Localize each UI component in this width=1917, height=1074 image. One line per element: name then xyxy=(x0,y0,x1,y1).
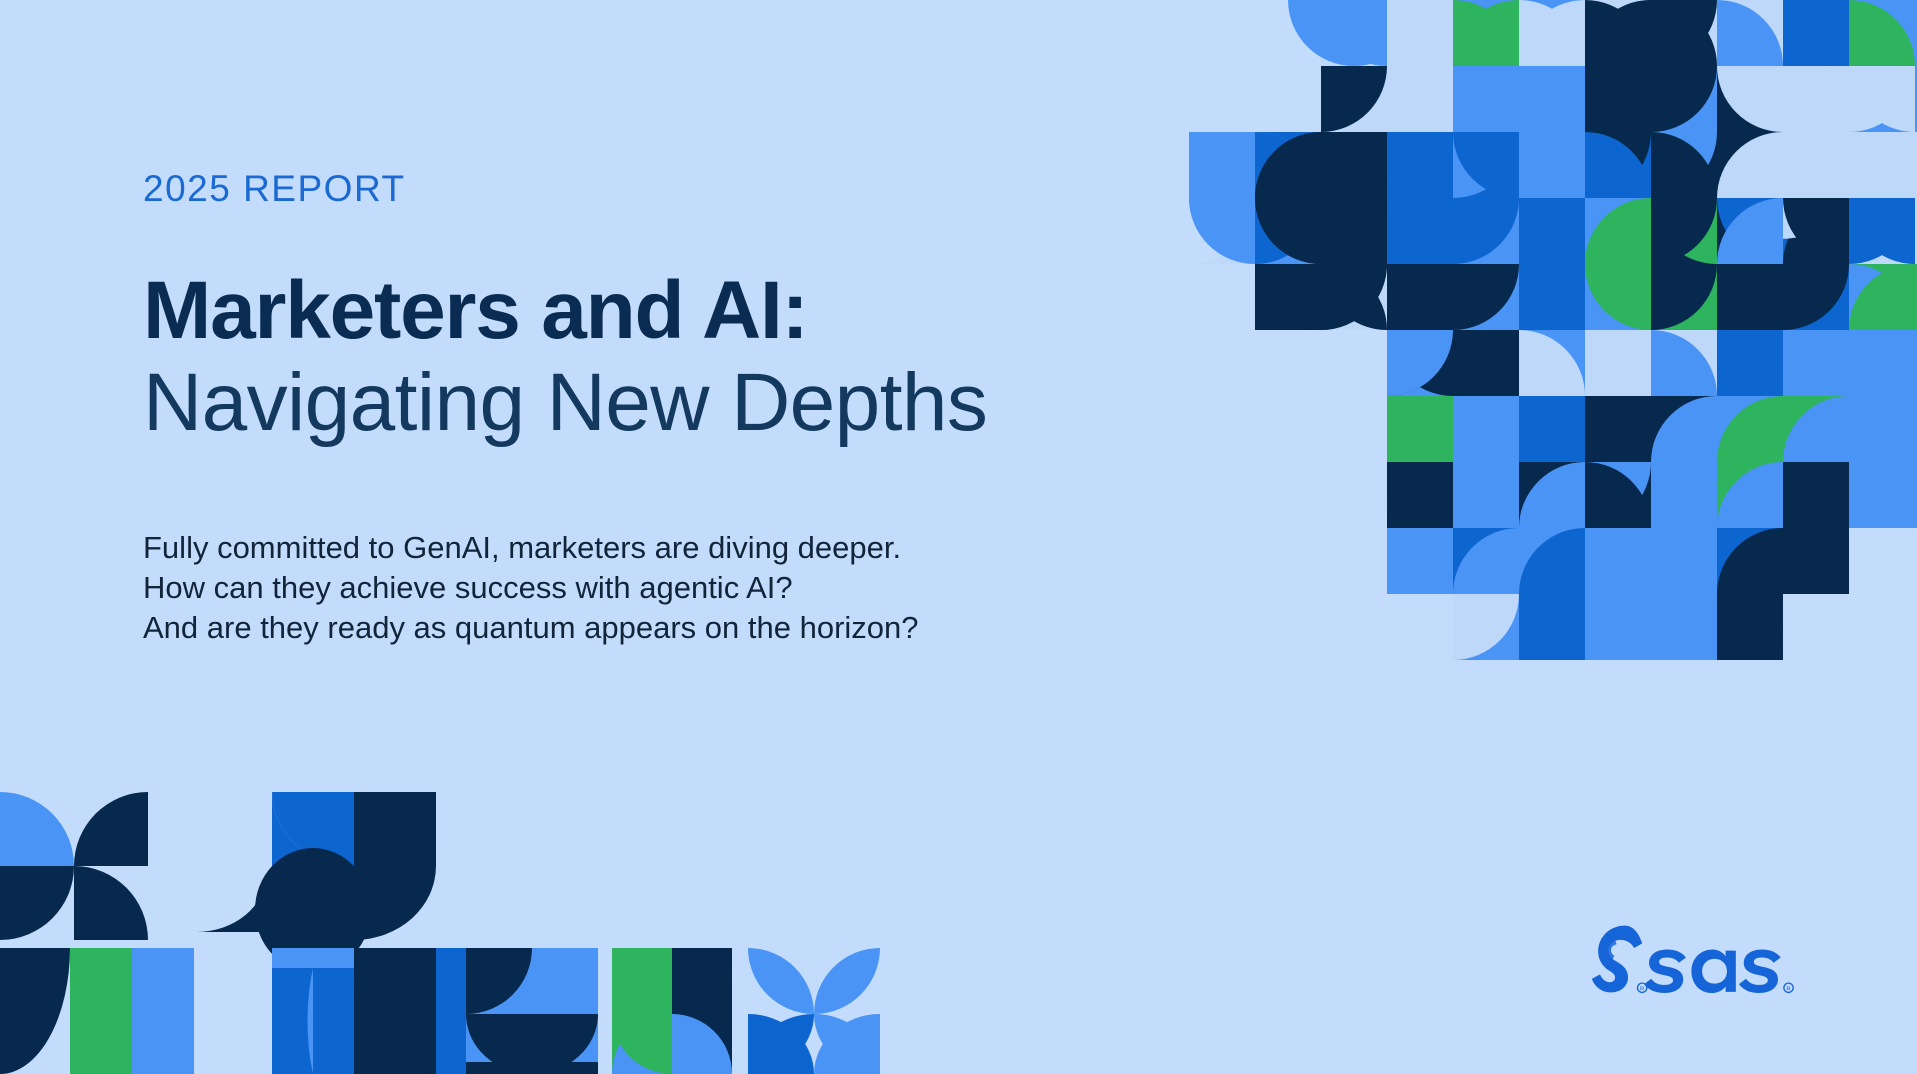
svg-text:R: R xyxy=(1786,986,1790,992)
subtitle-line-3: And are they ready as quantum appears on… xyxy=(143,608,1103,648)
title-line-secondary: Navigating New Depths xyxy=(143,356,1103,450)
subtitle-line-2: How can they achieve success with agenti… xyxy=(143,568,1103,608)
page-title: Marketers and AI: Navigating New Depths xyxy=(143,267,1103,450)
pattern-shapes-bottom xyxy=(0,784,880,1074)
report-eyebrow: 2025 REPORT xyxy=(143,170,1103,207)
sas-logo[interactable]: R R xyxy=(1577,916,1797,1002)
subtitle-line-1: Fully committed to GenAI, marketers are … xyxy=(143,528,1103,568)
top-right-geometric-pattern xyxy=(1057,0,1917,690)
pattern-shapes xyxy=(1189,0,1917,660)
cover-subtitle: Fully committed to GenAI, marketers are … xyxy=(143,528,1103,649)
sas-logo-mark: R R xyxy=(1577,916,1797,1002)
title-line-primary: Marketers and AI: xyxy=(143,267,1103,356)
cover-text-block: 2025 REPORT Marketers and AI: Navigating… xyxy=(143,170,1103,649)
cover-page: 2025 REPORT Marketers and AI: Navigating… xyxy=(0,0,1917,1074)
bottom-left-geometric-pattern xyxy=(0,784,960,1074)
svg-text:R: R xyxy=(1640,986,1644,992)
